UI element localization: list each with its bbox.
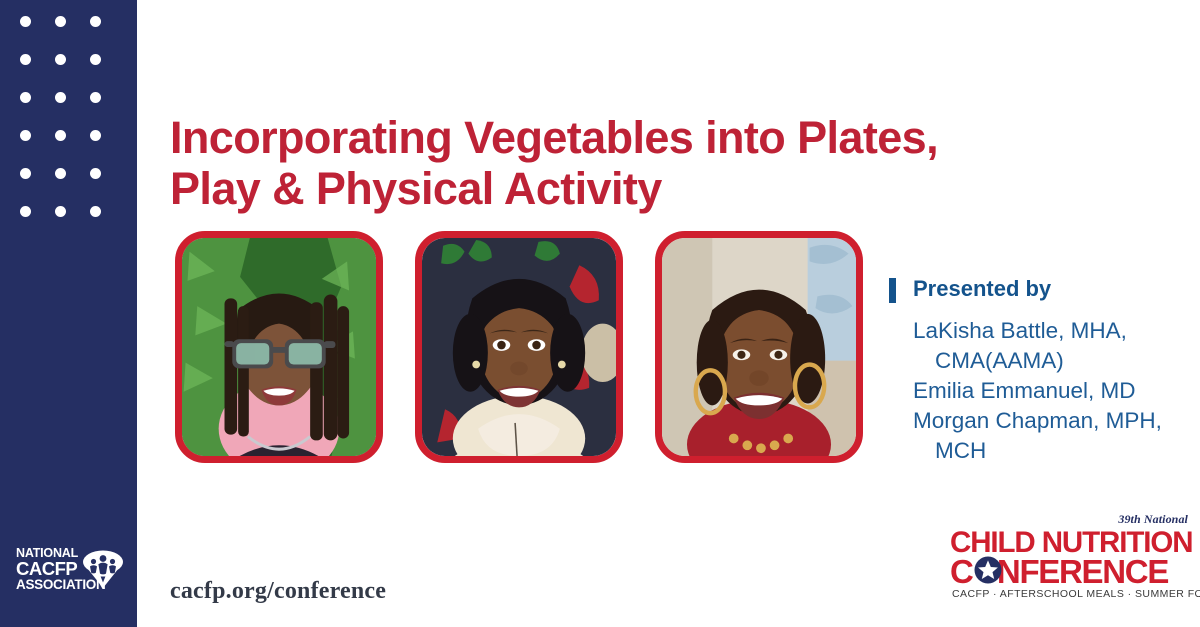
- pattern-dot: [20, 206, 31, 217]
- presented-by-header: Presented by: [889, 276, 1189, 306]
- pattern-dot: [20, 92, 31, 103]
- presenter-photo-1-image: [182, 238, 376, 456]
- pattern-dot: [90, 130, 101, 141]
- presenter-name-line: CMA(AAMA): [913, 346, 1189, 376]
- title-line-2: Play & Physical Activity: [170, 164, 1160, 215]
- presenter-photo-1: [175, 231, 383, 463]
- cacfp-logo-line2: CACFP: [16, 560, 92, 579]
- pattern-dot: [55, 16, 66, 27]
- presenter-name-line: Emilia Emmanuel, MD: [913, 376, 1189, 406]
- conference-logo-line2-suffix: NFERENCE: [997, 553, 1168, 590]
- pattern-dot: [20, 54, 31, 65]
- presenter-name-list: LaKisha Battle, MHA, CMA(AAMA) Emilia Em…: [913, 316, 1189, 466]
- conference-superscript: 39th National: [1118, 512, 1188, 527]
- left-sidebar: NATIONAL CACFP ASSOCIATION: [0, 0, 137, 627]
- pattern-dot: [90, 206, 101, 217]
- pattern-dot: [90, 168, 101, 179]
- conference-logo-line2-prefix: C: [950, 553, 973, 590]
- star-in-circle-icon: [974, 556, 1002, 584]
- pattern-dot: [55, 168, 66, 179]
- conference-tagline: CACFP · AFTERSCHOOL MEALS · SUMMER FOOD: [952, 588, 1200, 600]
- presented-by-label: Presented by: [913, 276, 1051, 302]
- pattern-dot: [20, 168, 31, 179]
- pattern-dot: [55, 206, 66, 217]
- title-line-1: Incorporating Vegetables into Plates,: [170, 113, 1160, 164]
- presenter-credits-block: Presented by LaKisha Battle, MHA, CMA(AA…: [889, 276, 1189, 466]
- diamond-people-emblem-icon: [82, 549, 124, 589]
- presenter-name-line: LaKisha Battle, MHA,: [913, 316, 1189, 346]
- pattern-dot: [55, 92, 66, 103]
- pattern-dot: [55, 130, 66, 141]
- pattern-dot: [20, 16, 31, 27]
- presenter-photo-3: [655, 231, 863, 463]
- presenter-name-line: Morgan Chapman, MPH,: [913, 406, 1189, 436]
- pattern-dot: [55, 54, 66, 65]
- child-nutrition-conference-logo: 39th National CHILD NUTRITION CONFERENCE…: [950, 512, 1188, 608]
- pattern-dot: [90, 16, 101, 27]
- presenter-photo-3-image: [662, 238, 856, 456]
- conference-url[interactable]: cacfp.org/conference: [170, 578, 386, 605]
- dot-pattern-decoration: [0, 0, 137, 240]
- cacfp-logo-line3: ASSOCIATION: [16, 578, 92, 592]
- presenter-name-line: MCH: [913, 436, 1189, 466]
- conference-session-slide: NATIONAL CACFP ASSOCIATION Incorporating…: [0, 0, 1200, 627]
- accent-bar: [889, 278, 896, 303]
- presenter-photo-2-image: [422, 238, 616, 456]
- page-title: Incorporating Vegetables into Plates, Pl…: [170, 113, 1160, 215]
- pattern-dot: [90, 54, 101, 65]
- national-cacfp-association-logo: NATIONAL CACFP ASSOCIATION: [16, 547, 124, 603]
- cacfp-wordmark: NATIONAL CACFP ASSOCIATION: [16, 547, 92, 592]
- presenter-photo-2: [415, 231, 623, 463]
- pattern-dot: [90, 92, 101, 103]
- pattern-dot: [20, 130, 31, 141]
